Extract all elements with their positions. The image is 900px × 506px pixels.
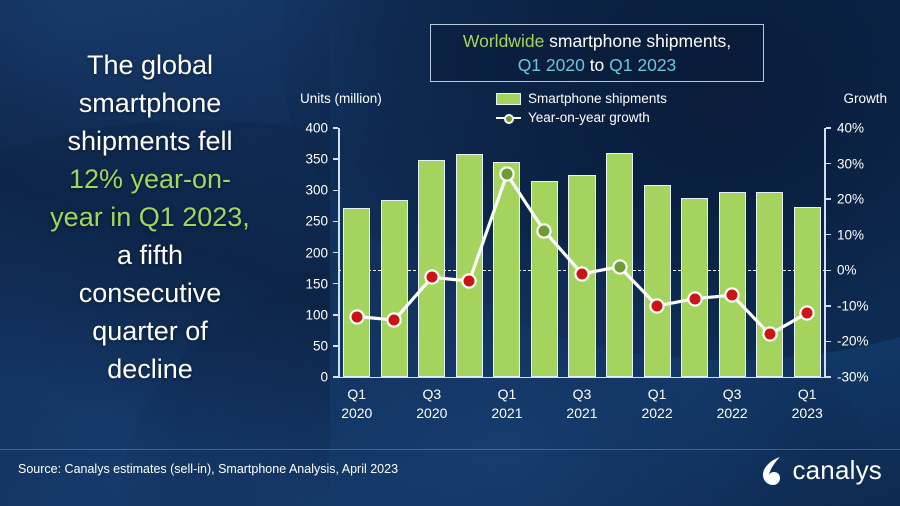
legend-item-bars: Smartphone shipments: [496, 91, 667, 106]
x-tick-year: 2022: [697, 404, 767, 423]
right-axis-title: Growth: [843, 91, 887, 106]
x-tick-quarter: Q1: [472, 385, 542, 404]
left-axis-title: Units (million): [300, 91, 382, 106]
growth-marker-q1-2022: [650, 298, 665, 313]
x-axis-label: Q32020: [397, 385, 467, 423]
growth-marker-q3-2022: [725, 288, 740, 303]
right-axis-tick: [826, 376, 831, 378]
x-tick-quarter: Q1: [322, 385, 392, 404]
growth-line-series: [338, 128, 826, 377]
headline-line-3: shipments fell: [16, 122, 284, 160]
left-axis-tick-label: 50: [294, 338, 328, 353]
chart-title: Worldwide smartphone shipments, Q1 2020 …: [463, 29, 731, 77]
x-tick-quarter: Q1: [622, 385, 692, 404]
chart-title-range-mid: to: [585, 55, 609, 75]
x-tick-quarter: Q3: [547, 385, 617, 404]
x-tick-year: 2022: [622, 404, 692, 423]
growth-marker-q4-2022: [762, 327, 777, 342]
canalys-mark-icon: [760, 456, 786, 486]
x-axis-label: Q32021: [547, 385, 617, 423]
slide-canvas: The global smartphone shipments fell 12%…: [0, 0, 900, 506]
canalys-wordmark: canalys: [792, 455, 882, 486]
canalys-logo: canalys: [760, 455, 882, 486]
headline-line-6: quarter of: [16, 312, 284, 350]
headline-highlight-2: year in Q1 2023,: [16, 198, 284, 236]
right-axis-tick: [826, 198, 831, 200]
right-axis-tick-label: 0%: [837, 263, 887, 278]
source-note: Source: Canalys estimates (sell-in), Sma…: [18, 462, 398, 476]
chart-title-range-end: Q1 2023: [609, 55, 676, 75]
right-axis-tick: [826, 234, 831, 236]
headline-line-7: decline: [16, 350, 284, 388]
left-axis-tick-label: 250: [294, 214, 328, 229]
right-axis-tick-label: 40%: [837, 121, 887, 136]
x-axis-label: Q12021: [472, 385, 542, 423]
chart-title-range-start: Q1 2020: [518, 55, 585, 75]
x-axis-label: Q32022: [697, 385, 767, 423]
right-axis-tick: [826, 163, 831, 165]
growth-marker-q2-2020: [387, 313, 402, 328]
x-tick-year: 2020: [397, 404, 467, 423]
right-axis-tick: [826, 341, 831, 343]
legend-bars-label: Smartphone shipments: [528, 91, 667, 106]
chart-area: Units (million) Growth Smartphone shipme…: [300, 92, 885, 392]
headline-line-2: smartphone: [16, 84, 284, 122]
right-axis-tick-label: -30%: [837, 370, 887, 385]
x-axis-label: Q12022: [622, 385, 692, 423]
growth-line-path: [357, 174, 807, 334]
growth-marker-q3-2020: [424, 270, 439, 285]
chart-title-worldwide: Worldwide: [463, 31, 544, 51]
growth-marker-q4-2020: [462, 273, 477, 288]
headline-line-4: a fifth: [16, 236, 284, 274]
right-axis-tick-label: -10%: [837, 298, 887, 313]
x-tick-quarter: Q1: [772, 385, 842, 404]
growth-marker-q4-2021: [612, 259, 627, 274]
right-axis-tick-label: 30%: [837, 156, 887, 171]
x-tick-year: 2023: [772, 404, 842, 423]
left-axis-tick-label: 350: [294, 152, 328, 167]
right-axis-tick-label: -20%: [837, 334, 887, 349]
x-tick-year: 2021: [472, 404, 542, 423]
growth-marker-q3-2021: [575, 266, 590, 281]
right-axis-tick-label: 10%: [837, 227, 887, 242]
x-axis-label: Q12023: [772, 385, 842, 423]
chart-legend: Smartphone shipments Year-on-year growth: [496, 91, 667, 125]
growth-marker-q1-2023: [800, 305, 815, 320]
headline-line-1: The global: [16, 46, 284, 84]
x-tick-quarter: Q3: [697, 385, 767, 404]
legend-bar-swatch-icon: [496, 93, 521, 105]
chart-title-rest: smartphone shipments,: [544, 31, 731, 51]
headline-text: The global smartphone shipments fell 12%…: [16, 46, 284, 388]
legend-item-line: Year-on-year growth: [496, 110, 667, 125]
right-axis-tick: [826, 270, 831, 272]
legend-line-marker-icon: [496, 112, 521, 124]
growth-marker-q2-2022: [687, 291, 702, 306]
plot-area: [338, 128, 826, 377]
x-tick-year: 2020: [322, 404, 392, 423]
left-axis-tick-label: 0: [294, 370, 328, 385]
left-axis-tick-label: 400: [294, 121, 328, 136]
right-axis-tick-label: 20%: [837, 192, 887, 207]
x-axis-label: Q12020: [322, 385, 392, 423]
chart-title-box: Worldwide smartphone shipments, Q1 2020 …: [430, 24, 764, 82]
legend-line-label: Year-on-year growth: [528, 110, 650, 125]
left-axis-tick-label: 200: [294, 245, 328, 260]
footer-divider: [0, 449, 900, 450]
headline-highlight-1: 12% year-on-: [16, 160, 284, 198]
x-tick-year: 2021: [547, 404, 617, 423]
x-tick-quarter: Q3: [397, 385, 467, 404]
growth-marker-q2-2021: [537, 224, 552, 239]
right-axis-tick: [826, 305, 831, 307]
growth-marker-q1-2021: [499, 167, 514, 182]
left-axis-tick-label: 300: [294, 183, 328, 198]
headline-line-5: consecutive: [16, 274, 284, 312]
right-axis-tick: [826, 127, 831, 129]
left-axis-tick-label: 150: [294, 276, 328, 291]
growth-marker-q1-2020: [349, 309, 364, 324]
left-axis-tick-label: 100: [294, 307, 328, 322]
